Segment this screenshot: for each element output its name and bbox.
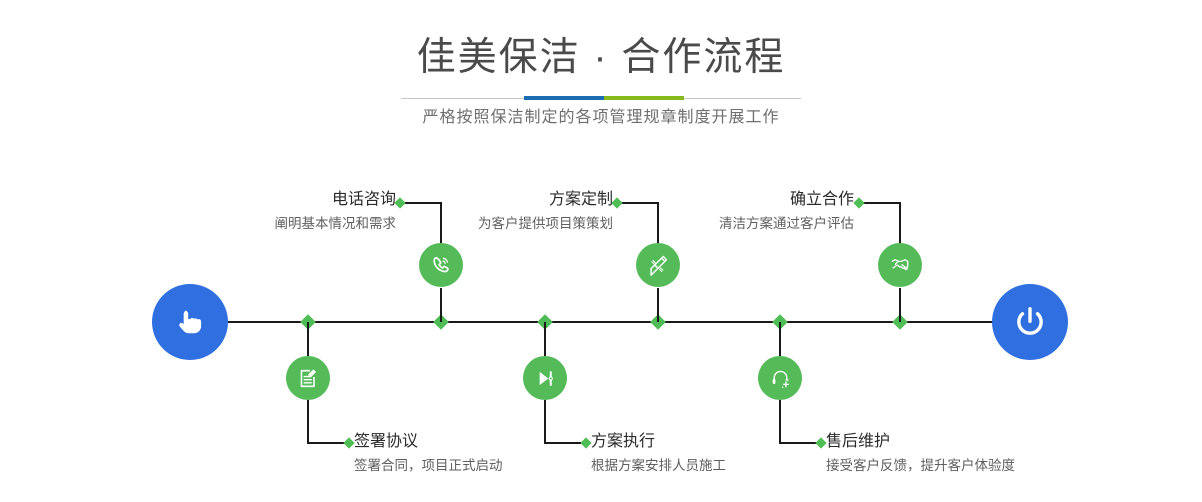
pencil-ruler-icon <box>645 252 671 278</box>
handshake-icon <box>887 252 913 278</box>
play-execute-icon <box>533 366 558 391</box>
label-marker <box>580 437 591 448</box>
label-marker <box>394 197 405 208</box>
step-desc: 签署合同，项目正式启动 <box>354 456 503 475</box>
step-title: 方案定制 <box>478 190 613 210</box>
step-title: 签署协议 <box>354 432 503 452</box>
step-desc: 清洁方案通过客户评估 <box>719 214 854 233</box>
step-title: 售后维护 <box>826 432 1015 452</box>
timeline-axis <box>155 321 1045 323</box>
end-node[interactable] <box>992 284 1068 360</box>
step-label: 方案定制 为客户提供项目策策划 <box>478 190 613 233</box>
connector-vertical-top <box>307 322 309 356</box>
start-node[interactable] <box>152 284 228 360</box>
pointing-hand-icon <box>170 302 210 342</box>
label-marker <box>853 197 864 208</box>
label-marker <box>611 197 622 208</box>
divider-segment-green <box>604 96 684 100</box>
connector-horizontal <box>307 442 345 444</box>
step-desc: 根据方案安排人员施工 <box>591 456 726 475</box>
document-edit-icon <box>296 366 321 391</box>
step-title: 方案执行 <box>591 432 726 452</box>
connector-vertical-bottom <box>779 400 781 443</box>
step-label: 确立合作 清洁方案通过客户评估 <box>719 190 854 233</box>
step-icon-handshake[interactable] <box>878 243 922 287</box>
step-title: 确立合作 <box>719 190 854 210</box>
step-label: 售后维护 接受客户反馈，提升客户体验度 <box>826 432 1015 475</box>
connector-vertical-bottom <box>307 400 309 443</box>
connector-vertical-bottom <box>657 288 659 322</box>
step-icon-play-execute[interactable] <box>523 356 567 400</box>
headset-plus-icon <box>768 366 793 391</box>
divider-segment-blue <box>524 96 604 100</box>
connector-horizontal <box>544 442 582 444</box>
step-label: 签署协议 签署合同，项目正式启动 <box>354 432 503 475</box>
step-title: 电话咨询 <box>275 190 397 210</box>
step-icon-document-edit[interactable] <box>286 356 330 400</box>
step-desc: 为客户提供项目策策划 <box>478 214 613 233</box>
flow-diagram-root: 佳美保洁 · 合作流程 严格按照保洁制定的各项管理规章制度开展工作 <box>0 0 1202 502</box>
step-desc: 接受客户反馈，提升客户体验度 <box>826 456 1015 475</box>
step-desc: 阐明基本情况和需求 <box>275 214 397 233</box>
phone-ring-icon <box>428 252 454 278</box>
step-icon-headset-plus[interactable] <box>758 356 802 400</box>
step-label: 电话咨询 阐明基本情况和需求 <box>275 190 397 233</box>
connector-vertical-top <box>657 202 659 244</box>
connector-horizontal <box>862 202 900 204</box>
connector-vertical-top <box>779 322 781 356</box>
connector-horizontal <box>620 202 658 204</box>
connector-vertical-top <box>899 202 901 244</box>
label-marker <box>343 437 354 448</box>
connector-horizontal <box>403 202 441 204</box>
connector-vertical-bottom <box>899 288 901 322</box>
connector-vertical-top <box>440 202 442 244</box>
connector-horizontal <box>779 442 817 444</box>
connector-vertical-bottom <box>544 400 546 443</box>
page-title: 佳美保洁 · 合作流程 <box>0 35 1202 81</box>
label-marker <box>815 437 826 448</box>
page-subtitle: 严格按照保洁制定的各项管理规章制度开展工作 <box>0 106 1202 130</box>
title-divider <box>401 96 801 101</box>
step-icon-phone-ring[interactable] <box>419 243 463 287</box>
connector-vertical-bottom <box>440 288 442 322</box>
power-icon <box>1009 301 1051 343</box>
connector-vertical-top <box>544 322 546 356</box>
step-label: 方案执行 根据方案安排人员施工 <box>591 432 726 475</box>
step-icon-pencil-ruler[interactable] <box>636 243 680 287</box>
